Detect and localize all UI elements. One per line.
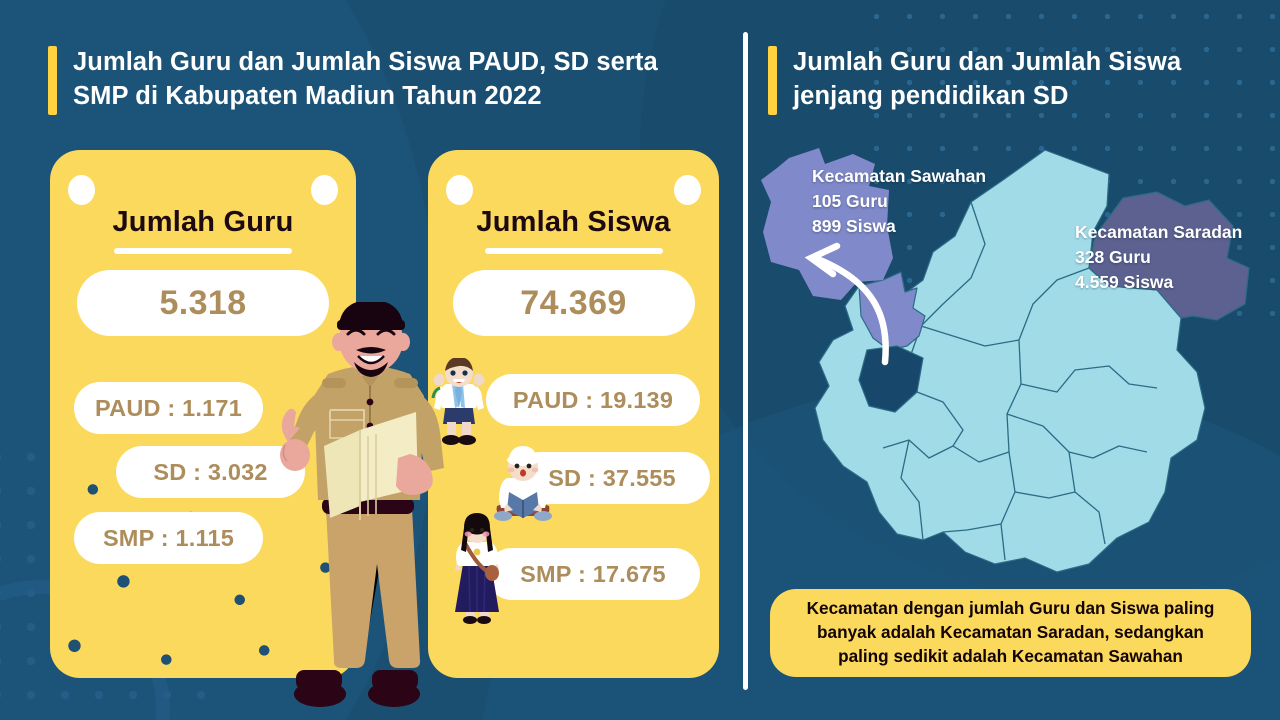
left-header: Jumlah Guru dan Jumlah Siswa PAUD, SD se… [48,46,658,115]
map-kabupaten-madiun: Kecamatan Sawahan 105 Guru 899 Siswa Kec… [757,140,1265,580]
card-siswa-underline [485,248,663,254]
card-siswa-row-smp: SMP : 17.675 [486,548,700,600]
card-siswa-total: 74.369 [453,270,695,336]
punch-hole-left-icon [68,175,95,205]
student-girl-illustration [449,512,505,624]
punch-hole-left-icon [446,175,473,205]
card-guru-row-paud: PAUD : 1.171 [74,382,263,434]
right-header: Jumlah Guru dan Jumlah Siswa jenjang pen… [768,46,1181,115]
map-label-sawahan: Kecamatan Sawahan 105 Guru 899 Siswa [812,164,986,239]
summary-caption-text: Kecamatan dengan jumlah Guru dan Siswa p… [807,597,1215,668]
right-header-title: Jumlah Guru dan Jumlah Siswa jenjang pen… [793,46,1181,113]
summary-caption-box: Kecamatan dengan jumlah Guru dan Siswa p… [770,589,1251,677]
map-label-saradan: Kecamatan Saradan 328 Guru 4.559 Siswa [1075,220,1242,295]
vertical-divider [743,32,748,690]
card-guru-row-smp: SMP : 1.115 [74,512,263,564]
card-siswa-row-paud: PAUD : 19.139 [486,374,700,426]
punch-hole-right-icon [311,175,338,205]
student-boy-illustration [428,358,490,446]
header-accent-bar [48,46,57,115]
header-accent-bar [768,46,777,115]
card-siswa-title: Jumlah Siswa [428,206,719,239]
punch-hole-right-icon [674,175,701,205]
left-header-title: Jumlah Guru dan Jumlah Siswa PAUD, SD se… [73,46,658,113]
card-guru-title: Jumlah Guru [50,206,356,239]
card-guru-underline [114,248,292,254]
